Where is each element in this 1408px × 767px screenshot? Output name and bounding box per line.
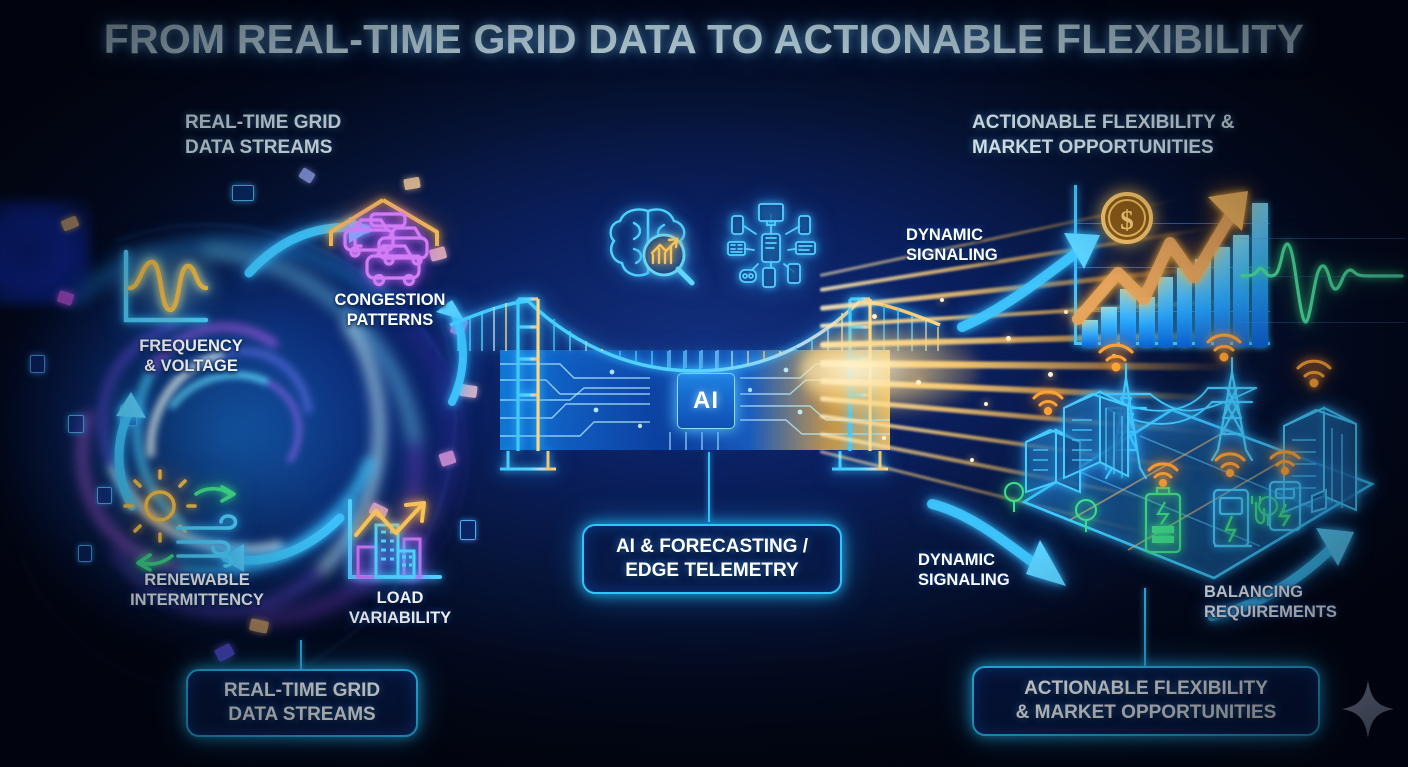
heading-line-2: MARKET OPPORTUNITIES bbox=[972, 135, 1234, 160]
center-caption-stem bbox=[708, 452, 710, 522]
brain-analytics-icon bbox=[608, 203, 700, 289]
caption-actionable-flexibility: ACTIONABLE FLEXIBILITY & MARKET OPPORTUN… bbox=[972, 666, 1320, 736]
caption-line-1: REAL-TIME GRID bbox=[224, 679, 380, 703]
label-line-2: SIGNALING bbox=[906, 245, 1036, 265]
label-congestion-patterns: CONGESTION PATTERNS bbox=[310, 290, 470, 330]
heading-line-1: REAL-TIME GRID bbox=[185, 110, 341, 135]
label-line-1: LOAD bbox=[330, 588, 470, 608]
caption-line-2: & MARKET OPPORTUNITIES bbox=[1016, 701, 1277, 725]
caption-ai-forecasting: AI & FORECASTING / EDGE TELEMETRY bbox=[582, 524, 842, 594]
label-line-1: BALANCING bbox=[1204, 582, 1384, 602]
sun-wind-icon bbox=[124, 470, 264, 574]
section-heading-right: ACTIONABLE FLEXIBILITY & MARKET OPPORTUN… bbox=[972, 110, 1234, 160]
label-line-1: DYNAMIC bbox=[906, 225, 1036, 245]
heading-line-1: ACTIONABLE FLEXIBILITY & bbox=[972, 110, 1234, 135]
caption-line-2: EDGE TELEMETRY bbox=[625, 559, 798, 583]
buildings-trend-icon bbox=[342, 495, 446, 587]
label-line-2: PATTERNS bbox=[310, 310, 470, 330]
caption-line-1: ACTIONABLE FLEXIBILITY bbox=[1024, 677, 1268, 701]
section-heading-left: REAL-TIME GRID DATA STREAMS bbox=[185, 110, 341, 160]
caption-realtime-grid-data-streams: REAL-TIME GRID DATA STREAMS bbox=[186, 669, 418, 737]
label-line-1: RENEWABLE bbox=[92, 570, 302, 590]
label-line-2: INTERMITTENCY bbox=[92, 590, 302, 610]
label-line-2: VARIABILITY bbox=[330, 608, 470, 628]
page-title: FROM REAL-TIME GRID DATA TO ACTIONABLE F… bbox=[0, 16, 1408, 63]
label-dynamic-signaling-bottom: DYNAMIC SIGNALING bbox=[918, 550, 1048, 590]
label-line-1: DYNAMIC bbox=[918, 550, 1048, 570]
heading-line-2: DATA STREAMS bbox=[185, 135, 341, 160]
four-point-sparkle-icon bbox=[1340, 678, 1396, 740]
label-line-2: & VOLTAGE bbox=[96, 356, 286, 376]
label-line-1: CONGESTION bbox=[310, 290, 470, 310]
label-load-variability: LOAD VARIABILITY bbox=[330, 588, 470, 628]
right-caption-stem bbox=[1144, 588, 1146, 666]
waveform-chart-icon bbox=[118, 248, 210, 328]
label-balancing-requirements: BALANCING REQUIREMENTS bbox=[1204, 582, 1384, 622]
label-frequency-voltage: FREQUENCY & VOLTAGE bbox=[96, 336, 286, 376]
label-dynamic-signaling-top: DYNAMIC SIGNALING bbox=[906, 225, 1036, 265]
label-line-1: FREQUENCY bbox=[96, 336, 286, 356]
caption-line-1: AI & FORECASTING / bbox=[616, 535, 808, 559]
iot-network-icon bbox=[726, 202, 816, 288]
label-line-2: REQUIREMENTS bbox=[1204, 602, 1384, 622]
left-caption-stem bbox=[300, 640, 302, 670]
traffic-cars-icon bbox=[325, 196, 445, 296]
label-renewable-intermittency: RENEWABLE INTERMITTENCY bbox=[92, 570, 302, 610]
label-line-2: SIGNALING bbox=[918, 570, 1048, 590]
infographic-canvas: FREQUENCY & VOLTAGE CONGESTION PATTERNS bbox=[0, 0, 1408, 767]
caption-line-2: DATA STREAMS bbox=[228, 703, 375, 727]
ecg-waveform-icon bbox=[1242, 236, 1402, 346]
